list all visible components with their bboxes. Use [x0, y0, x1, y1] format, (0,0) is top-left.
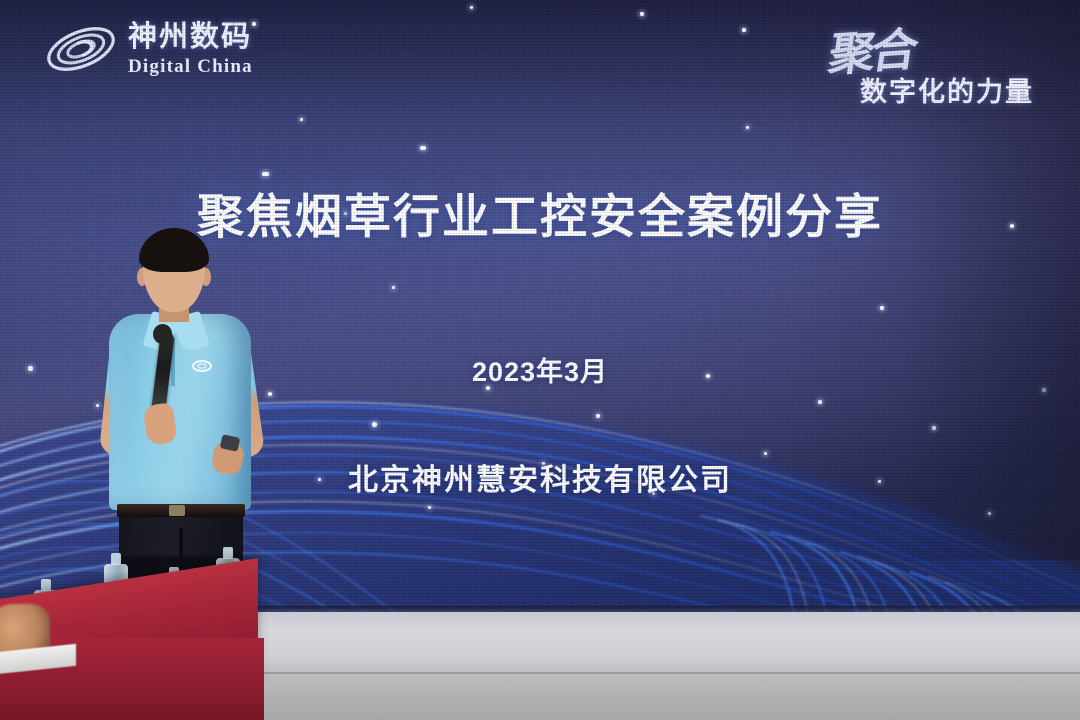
digital-china-logo: 神州数码 Digital China: [44, 18, 253, 80]
company-badge-icon: [191, 356, 213, 376]
digital-china-wordmark: 神州数码 Digital China: [128, 23, 253, 76]
event-logo: 聚合 数字化的力量: [808, 16, 1058, 120]
brand-name-cn: 神州数码: [128, 23, 253, 52]
belt-buckle: [169, 505, 185, 516]
speaker-hair: [139, 228, 209, 272]
brand-name-en: Digital China: [128, 57, 253, 76]
conference-photo: 神州数码 Digital China 聚合 数字化的力量 聚焦烟草行业工控安全案…: [0, 0, 1080, 720]
event-logo-subtitle: 数字化的力量: [860, 70, 1034, 109]
spiral-swirl-icon: [44, 18, 118, 80]
